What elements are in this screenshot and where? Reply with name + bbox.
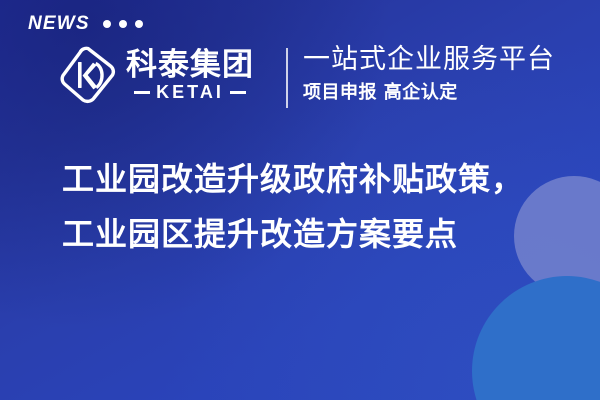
ketai-diamond-kd-logo-icon xyxy=(58,44,118,106)
news-banner: NEWS 科泰集团 KETAI xyxy=(0,0,600,400)
vertical-divider xyxy=(286,48,288,108)
dot-icon xyxy=(135,20,143,28)
headline-line: 工业园区提升改造方案要点 xyxy=(62,207,562,262)
brand-wordmark: 科泰集团 KETAI xyxy=(126,49,254,102)
decorative-circle-bright xyxy=(472,276,600,400)
slogan-main: 一站式企业服务平台 xyxy=(303,44,555,76)
headline-line: 工业园改造升级政府补贴政策， xyxy=(62,152,562,207)
slogan-sub: 项目申报 高企认定 xyxy=(303,82,555,105)
slogan-block: 一站式企业服务平台 项目申报 高企认定 xyxy=(303,44,555,105)
brand-lockup: 科泰集团 KETAI xyxy=(58,44,254,106)
wordmark-rule-right xyxy=(230,91,246,94)
news-label: NEWS xyxy=(28,14,90,33)
news-dots-icon xyxy=(103,20,143,28)
dot-icon xyxy=(103,20,111,28)
dot-icon xyxy=(119,20,127,28)
wordmark-rule-left xyxy=(134,91,150,94)
news-kicker: NEWS xyxy=(28,14,143,33)
brand-name-en: KETAI xyxy=(156,83,224,101)
headline: 工业园改造升级政府补贴政策， 工业园区提升改造方案要点 xyxy=(62,152,562,262)
brand-name-cn: 科泰集团 xyxy=(126,49,254,82)
brand-name-en-row: KETAI xyxy=(134,83,246,101)
